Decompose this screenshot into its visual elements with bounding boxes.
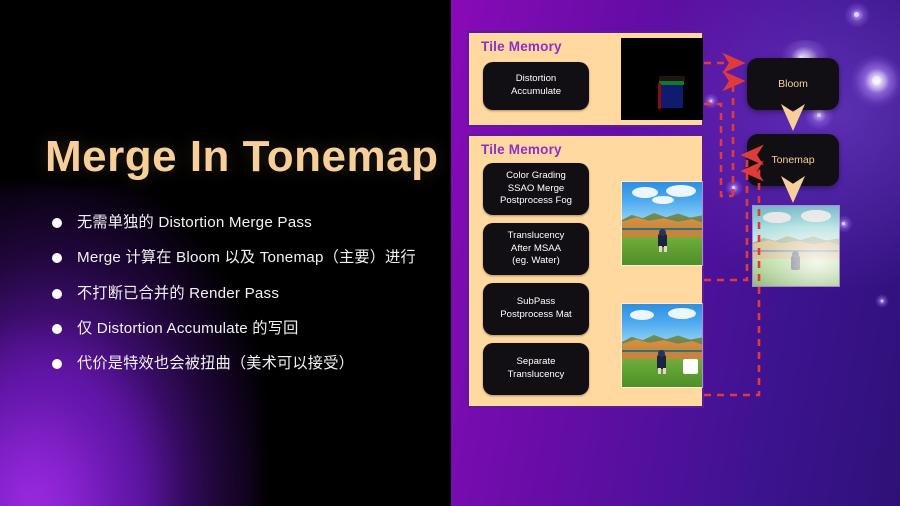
star-decoration <box>817 113 821 117</box>
pass-box-line: Postprocess Mat <box>500 309 571 320</box>
star-decoration <box>842 222 845 225</box>
cube-face-blue <box>661 84 683 108</box>
tile-memory-panel-1: Tile Memory Distortion Accumulate <box>467 31 704 127</box>
pass-box-line: SubPass <box>517 296 555 307</box>
list-item-label: Merge 计算在 Bloom 以及 Tonemap（主要）进行 <box>77 247 416 269</box>
arrow-distortion-trunk <box>704 104 733 196</box>
left-content-pane: Merge In Tonemap 无需单独的 Distortion Merge … <box>0 0 451 506</box>
pass-box-line: (eg. Water) <box>512 255 560 266</box>
scene-character-legs <box>658 368 661 374</box>
bullet-dot-icon <box>52 359 62 369</box>
pass-box-line: Distortion <box>516 73 557 84</box>
pass-box-line: After MSAA <box>511 243 561 254</box>
scene-white-quad-overlay <box>683 359 698 374</box>
scene-character-head <box>658 350 665 357</box>
game-scene-image <box>622 304 702 387</box>
pass-box-line: Accumulate <box>511 86 561 97</box>
list-item-label: 代价是特效也会被扭曲（美术可以接受） <box>77 353 354 375</box>
tile-memory-panel-2: Tile Memory Color Grading SSAO Merge Pos… <box>467 134 704 408</box>
bullet-dot-icon <box>52 289 62 299</box>
pass-box-translucency-after-msaa[interactable]: Translucency After MSAA (eg. Water) <box>483 223 589 275</box>
bullet-dot-icon <box>52 218 62 228</box>
pass-box-line: Translucency <box>508 230 565 241</box>
tile-memory-passes-1: Distortion Accumulate <box>469 33 621 125</box>
tile-memory-passes-2: Color Grading SSAO Merge Postprocess Fog… <box>469 136 621 406</box>
cube-face-shadow <box>659 76 685 81</box>
flow-node-label: Tonemap <box>771 154 814 166</box>
pass-box-line: Translucency <box>508 369 565 380</box>
diagram-pane: Tile Memory Distortion Accumulate <box>451 0 900 506</box>
pass-box-separate-translucency[interactable]: Separate Translucency <box>483 343 589 395</box>
thumbnail-scene-separate-translucency <box>621 303 703 388</box>
list-item-label: 无需单独的 Distortion Merge Pass <box>77 212 312 234</box>
star-decoration <box>881 300 883 302</box>
list-item: Merge 计算在 Bloom 以及 Tonemap（主要）进行 <box>52 247 444 269</box>
flow-node-tonemap[interactable]: Tonemap <box>747 134 839 186</box>
scene-character-legs <box>664 246 667 252</box>
arrow-postprocess-to-tonemap <box>704 155 747 280</box>
pass-box-line: SSAO Merge <box>508 183 565 194</box>
pass-box-line: Separate <box>517 356 556 367</box>
arrow-trunk-to-bloom <box>733 81 743 196</box>
star-decoration <box>872 76 881 85</box>
bloom-overlay <box>753 206 839 286</box>
list-item: 不打断已合并的 Render Pass <box>52 283 444 305</box>
star-decoration <box>710 100 712 102</box>
scene-cloud <box>666 185 696 197</box>
scene-character <box>657 355 666 369</box>
pass-box-line: Postprocess Fog <box>500 195 572 206</box>
pass-box-distortion-accumulate[interactable]: Distortion Accumulate <box>483 62 589 110</box>
bullet-list: 无需单独的 Distortion Merge Pass Merge 计算在 Bl… <box>52 212 444 389</box>
flow-node-bloom[interactable]: Bloom <box>747 58 839 110</box>
scene-cloud <box>652 196 674 204</box>
scene-character-legs <box>663 368 666 374</box>
list-item: 仅 Distortion Accumulate 的写回 <box>52 318 444 340</box>
flow-node-label: Bloom <box>778 78 808 90</box>
pass-box-color-grading[interactable]: Color Grading SSAO Merge Postprocess Fog <box>483 163 589 215</box>
scene-character-legs <box>659 246 662 252</box>
scene-character-head <box>659 229 666 236</box>
star-decoration <box>854 12 859 17</box>
star-glare-decoration <box>856 60 898 102</box>
thumbnail-distortion-accumulate-buffer <box>621 38 703 120</box>
distortion-buffer-image <box>621 38 703 120</box>
arrow-translucency-to-tonemap <box>704 171 759 395</box>
pass-box-subpass-postprocess-mat[interactable]: SubPass Postprocess Mat <box>483 283 589 335</box>
scene-cloud <box>668 308 696 319</box>
list-item: 无需单独的 Distortion Merge Pass <box>52 212 444 234</box>
game-scene-image <box>622 182 702 265</box>
thumbnail-scene-postprocess <box>621 181 703 266</box>
list-item-label: 不打断已合并的 Render Pass <box>77 283 279 305</box>
bullet-dot-icon <box>52 324 62 334</box>
bullet-dot-icon <box>52 253 62 263</box>
cube-face-left-red <box>658 83 661 109</box>
pass-box-line: Color Grading <box>506 170 566 181</box>
star-decoration <box>732 186 735 189</box>
scene-cloud <box>630 310 654 320</box>
list-item-label: 仅 Distortion Accumulate 的写回 <box>77 318 298 340</box>
slide-root: Merge In Tonemap 无需单独的 Distortion Merge … <box>0 0 900 506</box>
page-title: Merge In Tonemap <box>45 132 438 182</box>
list-item: 代价是特效也会被扭曲（美术可以接受） <box>52 353 444 375</box>
cube-face-top-green <box>659 81 684 85</box>
thumbnail-final-tonemapped-frame <box>752 205 840 287</box>
